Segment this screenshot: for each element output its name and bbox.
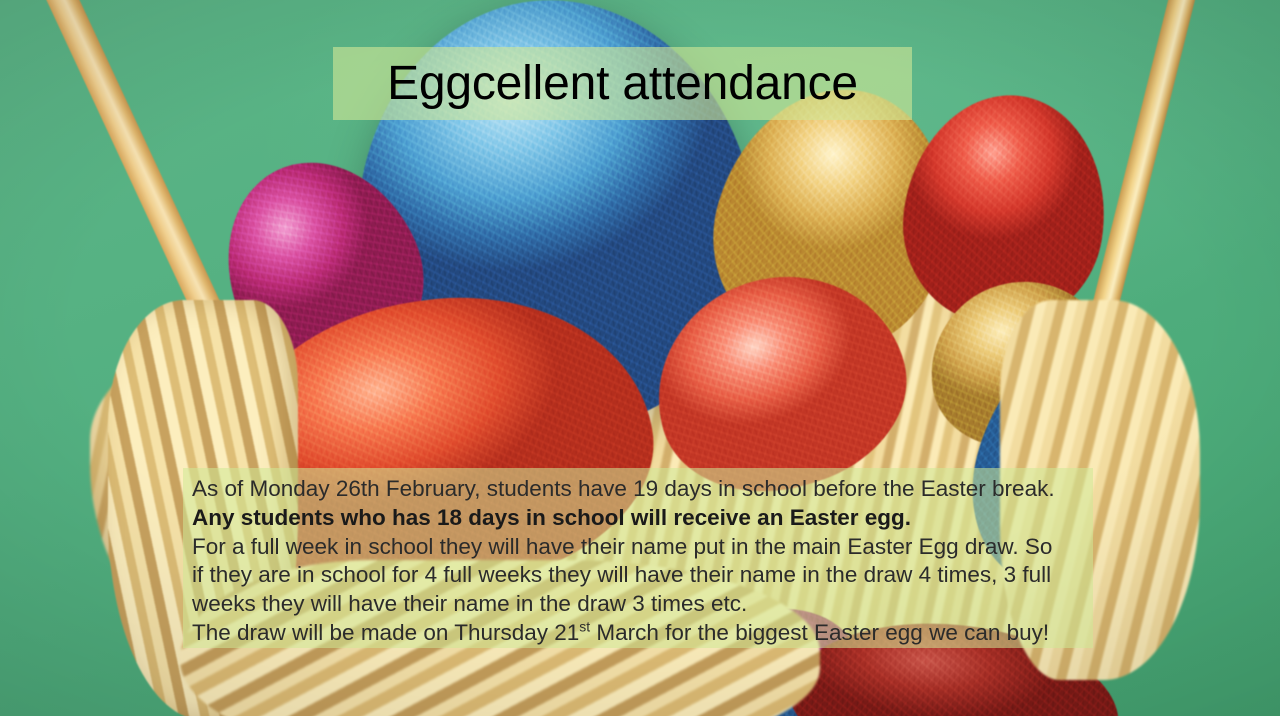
- body-line-6: The draw will be made on Thursday 21st M…: [192, 619, 1083, 648]
- body-line-4: if they are in school for 4 full weeks t…: [192, 561, 1083, 590]
- page-title: Eggcellent attendance: [387, 60, 858, 108]
- ordinal-suffix: st: [579, 618, 590, 634]
- body-line-1: As of Monday 26th February, students hav…: [192, 475, 1083, 504]
- slide-canvas: Eggcellent attendance As of Monday 26th …: [0, 0, 1280, 716]
- draw-date-prefix: The draw will be made on Thursday 21: [192, 620, 579, 645]
- announcement-text-block: As of Monday 26th February, students hav…: [183, 468, 1093, 648]
- body-line-3: For a full week in school they will have…: [192, 533, 1083, 562]
- body-line-2: Any students who has 18 days in school w…: [192, 504, 1083, 533]
- body-line-5: weeks they will have their name in the d…: [192, 590, 1083, 619]
- title-banner: Eggcellent attendance: [333, 47, 912, 120]
- draw-date-suffix: March for the biggest Easter egg we can …: [590, 620, 1049, 645]
